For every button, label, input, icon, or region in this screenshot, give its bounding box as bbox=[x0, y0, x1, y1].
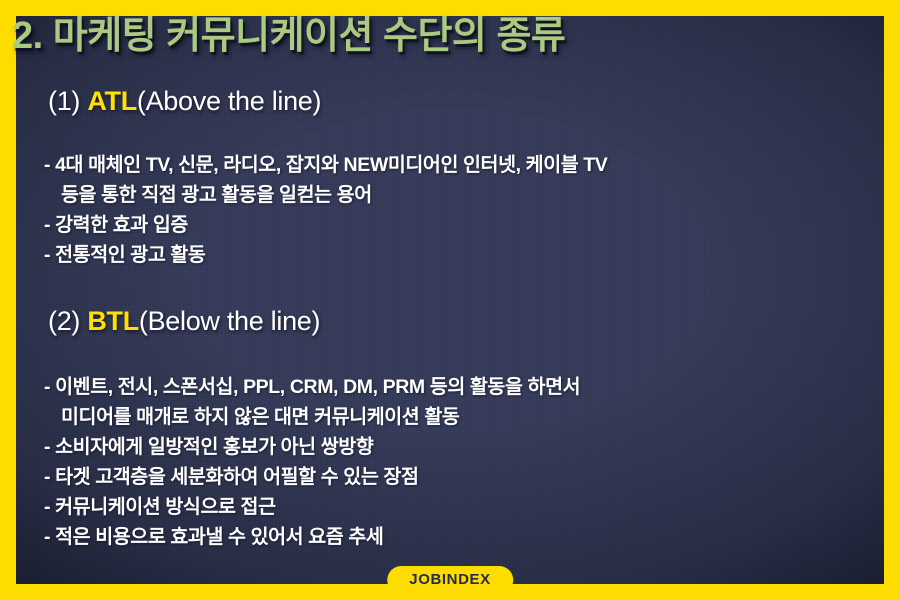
list-item: - 커뮤니케이션 방식으로 접근 bbox=[44, 492, 580, 522]
section-number-atl: (1) bbox=[48, 86, 87, 116]
list-item: - 적은 비용으로 효과낼 수 있어서 요즘 추세 bbox=[44, 522, 580, 552]
section-accent-btl: BTL bbox=[87, 306, 139, 336]
list-item: 등을 통한 직접 광고 활동을 일컫는 용어 bbox=[44, 180, 607, 210]
slide-content: 2. 마케팅 커뮤니케이션 수단의 종류 (1) ATL(Above the l… bbox=[0, 0, 900, 600]
list-item: - 타겟 고객층을 세분화하여 어필할 수 있는 장점 bbox=[44, 462, 580, 492]
footer-brand-badge: JOBINDEX bbox=[387, 566, 513, 594]
section-suffix-atl: (Above the line) bbox=[137, 86, 321, 116]
bullet-list-atl: - 4대 매체인 TV, 신문, 라디오, 잡지와 NEW미디어인 인터넷, 케… bbox=[44, 150, 607, 270]
list-item: - 이벤트, 전시, 스폰서십, PPL, CRM, DM, PRM 등의 활동… bbox=[44, 372, 580, 402]
page-title: 2. 마케팅 커뮤니케이션 수단의 종류 bbox=[12, 4, 565, 59]
list-item: - 4대 매체인 TV, 신문, 라디오, 잡지와 NEW미디어인 인터넷, 케… bbox=[44, 150, 607, 180]
section-accent-atl: ATL bbox=[87, 86, 137, 116]
list-item: - 강력한 효과 입증 bbox=[44, 210, 607, 240]
slide-root: 2. 마케팅 커뮤니케이션 수단의 종류 (1) ATL(Above the l… bbox=[0, 0, 900, 600]
list-item: - 소비자에게 일방적인 홍보가 아닌 쌍방향 bbox=[44, 432, 580, 462]
section-heading-atl: (1) ATL(Above the line) bbox=[48, 86, 321, 117]
list-item: - 전통적인 광고 활동 bbox=[44, 240, 607, 270]
bullet-list-btl: - 이벤트, 전시, 스폰서십, PPL, CRM, DM, PRM 등의 활동… bbox=[44, 372, 580, 552]
section-number-btl: (2) bbox=[48, 306, 87, 336]
section-heading-btl: (2) BTL(Below the line) bbox=[48, 306, 320, 337]
section-suffix-btl: (Below the line) bbox=[139, 306, 320, 336]
list-item: 미디어를 매개로 하지 않은 대면 커뮤니케이션 활동 bbox=[44, 402, 580, 432]
